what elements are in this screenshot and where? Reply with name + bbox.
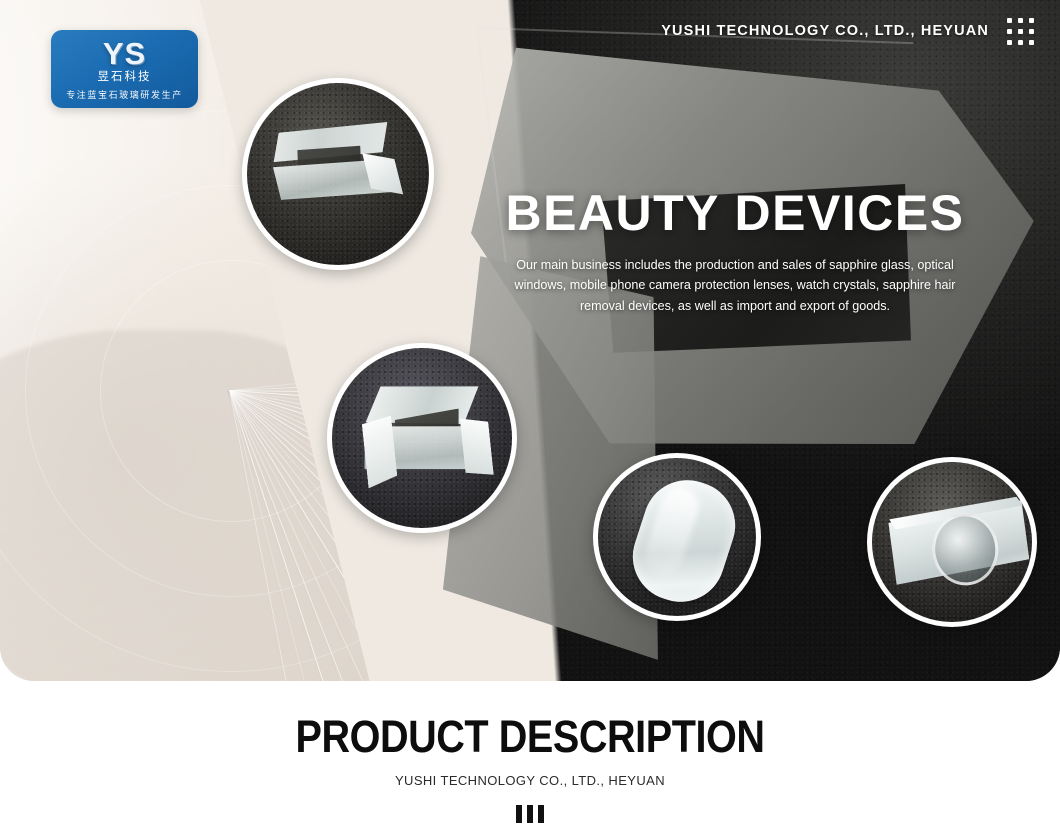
crystal-side-rib <box>362 146 404 204</box>
logo-mark: YS <box>103 38 146 69</box>
dot <box>1018 18 1023 23</box>
hero-title: BEAUTY DEVICES <box>500 188 970 238</box>
divider-bar <box>516 805 522 823</box>
product-description-title: PRODUCT DESCRIPTION <box>64 681 997 759</box>
logo-tagline: 专注蓝宝石玻璃研发生产 <box>66 91 183 100</box>
logo-chinese-name: 昱石科技 <box>98 72 152 84</box>
hero-text-block: BEAUTY DEVICES Our main business include… <box>500 188 970 316</box>
dot <box>1029 29 1034 34</box>
dot <box>1007 29 1012 34</box>
dot <box>1018 40 1023 45</box>
product-photo-circle-4[interactable] <box>867 457 1037 627</box>
product-photo-circle-2[interactable] <box>327 343 517 533</box>
sapphire-block-with-bore-image <box>884 492 1032 602</box>
hero-banner: YUSHI TECHNOLOGY CO., LTD., HEYUAN YS 昱石… <box>0 0 1060 681</box>
divider-bar <box>538 805 544 823</box>
dot <box>1029 18 1034 23</box>
divider-bars <box>0 805 1060 823</box>
product-description-subtitle: YUSHI TECHNOLOGY CO., LTD., HEYUAN <box>0 773 1060 788</box>
dot-grid-icon[interactable] <box>1007 18 1034 45</box>
product-photo-circle-1[interactable] <box>242 78 434 270</box>
crystal-right-wall <box>460 416 494 481</box>
dot <box>1007 18 1012 23</box>
hero-description: Our main business includes the productio… <box>506 255 964 316</box>
sapphire-channel-block-front-image <box>352 375 502 509</box>
dot <box>1018 29 1023 34</box>
dot <box>1007 40 1012 45</box>
dot <box>1029 40 1034 45</box>
company-logo[interactable]: YS 昱石科技 专注蓝宝石玻璃研发生产 <box>51 30 198 108</box>
product-description-section: PRODUCT DESCRIPTION YUSHI TECHNOLOGY CO.… <box>0 681 1060 838</box>
header: YUSHI TECHNOLOGY CO., LTD., HEYUAN <box>661 0 1060 62</box>
divider-bar <box>527 805 533 823</box>
header-company-name: YUSHI TECHNOLOGY CO., LTD., HEYUAN <box>661 23 989 39</box>
product-photo-circle-3[interactable] <box>593 453 761 621</box>
